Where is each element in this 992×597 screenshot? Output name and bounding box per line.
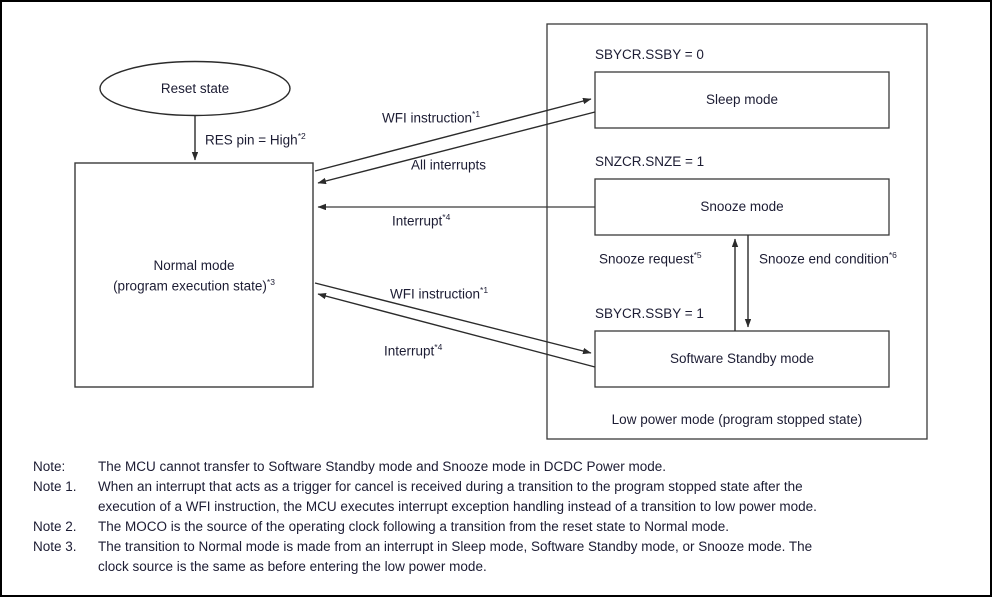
transition-text-snooze-to-normal: Interrupt — [392, 214, 442, 229]
transition-label-normal-to-standby: WFI instruction*1 — [390, 286, 488, 302]
transition-text-normal-to-standby: WFI instruction — [390, 287, 480, 302]
normal-mode-label-line1: Normal mode — [75, 258, 313, 273]
transition-label-normal-to-sleep: WFI instruction*1 — [382, 110, 480, 126]
note-text-0-0: The MCU cannot transfer to Software Stan… — [98, 459, 666, 474]
transition-footnote-normal-to-standby: *1 — [480, 285, 488, 295]
note-text-2-0: The MOCO is the source of the operating … — [98, 519, 729, 534]
transition-footnote-snooze-to-standby: *6 — [889, 250, 897, 260]
transition-footnote-standby-to-snooze: *5 — [694, 250, 702, 260]
transition-text-sleep-to-normal: All interrupts — [411, 158, 486, 173]
transition-label-snooze-to-standby: Snooze end condition*6 — [759, 251, 897, 267]
note-text-1-0: When an interrupt that acts as a trigger… — [98, 479, 803, 494]
transition-footnote-reset-to-normal: *2 — [298, 131, 306, 141]
figure-canvas: Reset state Normal mode (program executi… — [0, 0, 992, 597]
standby-mode-label: Software Standby mode — [595, 351, 889, 366]
normal-mode-line2-text: (program execution state) — [113, 279, 267, 294]
reset-state-label: Reset state — [75, 81, 315, 96]
transition-text-reset-to-normal: RES pin = High — [205, 133, 298, 148]
normal-mode-footnote-marker: *3 — [267, 277, 275, 287]
note-text-3-0: The transition to Normal mode is made fr… — [98, 539, 812, 554]
low-power-panel-caption: Low power mode (program stopped state) — [547, 412, 927, 427]
transition-text-standby-to-normal: Interrupt — [384, 344, 434, 359]
normal-mode-box — [75, 163, 313, 387]
transition-label-standby-to-normal: Interrupt*4 — [384, 343, 442, 359]
low-power-mode-panel — [547, 24, 927, 439]
snooze-mode-label: Snooze mode — [595, 199, 889, 214]
note-label-3: Note 3. — [33, 539, 77, 554]
note-text-1-1: execution of a WFI instruction, the MCU … — [98, 499, 817, 514]
note-label-0: Note: — [33, 459, 65, 474]
transition-footnote-snooze-to-normal: *4 — [442, 212, 450, 222]
transition-label-sleep-to-normal: All interrupts — [411, 157, 486, 173]
transition-label-standby-to-snooze: Snooze request*5 — [599, 251, 702, 267]
standby-mode-condition: SBYCR.SSBY = 1 — [595, 306, 704, 322]
note-label-1: Note 1. — [33, 479, 77, 494]
transition-label-reset-to-normal: RES pin = High*2 — [205, 132, 306, 148]
transition-text-standby-to-snooze: Snooze request — [599, 252, 694, 267]
note-text-3-1: clock source is the same as before enter… — [98, 559, 487, 574]
normal-mode-label-line2: (program execution state)*3 — [75, 277, 313, 294]
note-label-2: Note 2. — [33, 519, 77, 534]
transition-footnote-standby-to-normal: *4 — [434, 342, 442, 352]
transition-text-snooze-to-standby: Snooze end condition — [759, 252, 889, 267]
transition-text-normal-to-sleep: WFI instruction — [382, 111, 472, 126]
sleep-mode-condition: SBYCR.SSBY = 0 — [595, 47, 704, 63]
sleep-mode-label: Sleep mode — [595, 92, 889, 107]
transition-label-snooze-to-normal: Interrupt*4 — [392, 213, 450, 229]
arrow-standby-to-normal — [318, 294, 595, 367]
transition-footnote-normal-to-sleep: *1 — [472, 109, 480, 119]
snooze-mode-condition: SNZCR.SNZE = 1 — [595, 154, 704, 170]
